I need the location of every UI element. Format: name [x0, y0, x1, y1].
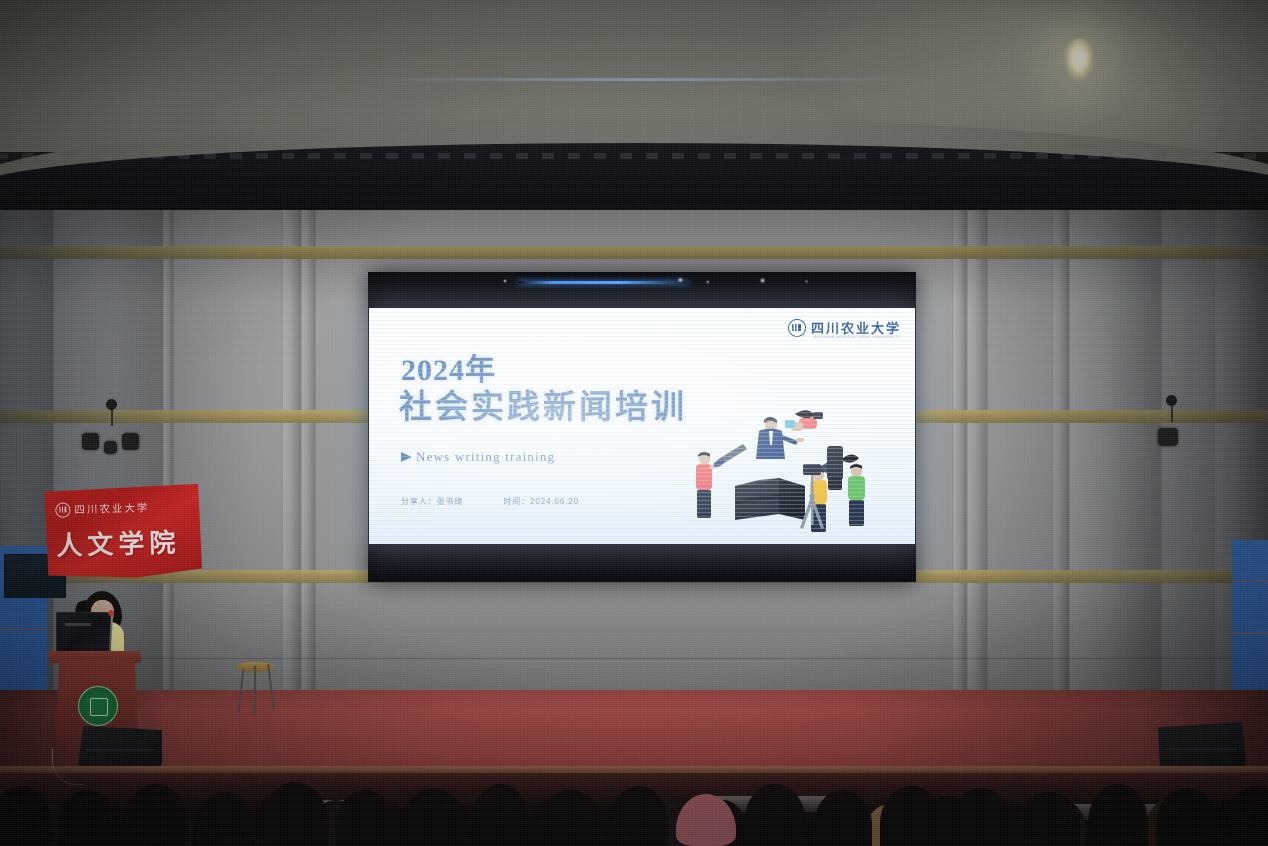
- spotlight-icon: [82, 433, 99, 450]
- presentation-slide: 四川农业大学 SICHUAN AGRICULTURAL UNIVERSITY 2…: [369, 308, 915, 544]
- audience-head: [880, 786, 944, 846]
- auditorium-photo: 四川农业大学 SICHUAN AGRICULTURAL UNIVERSITY 2…: [0, 0, 1268, 846]
- stage-monitor-left: [78, 726, 162, 766]
- spotlight-stem: [1171, 406, 1173, 422]
- podium-monitor: [56, 612, 111, 655]
- screen-blue-strip: [518, 281, 688, 284]
- speaker-podium: [56, 660, 138, 738]
- wainscot-line: [1232, 580, 1268, 582]
- spotlight-dome-icon: [1166, 395, 1177, 406]
- slide-title-line1: 2024年: [401, 356, 496, 386]
- university-emblem-icon: [788, 319, 806, 337]
- audience-head: [58, 790, 116, 846]
- audience-head: [814, 790, 872, 846]
- slide-university-logo: 四川农业大学 SICHUAN AGRICULTURAL UNIVERSITY: [788, 318, 901, 337]
- spotlight-dome-icon: [106, 399, 117, 410]
- beam-vent-slots: [0, 153, 1268, 159]
- illustration-podium: [735, 478, 805, 520]
- audience-head: [336, 790, 394, 846]
- audience-head: [124, 784, 188, 846]
- press-conference-illustration: [695, 408, 905, 538]
- spotlight-icon: [122, 433, 139, 450]
- slide-subtitle-text: News writing training: [416, 449, 555, 465]
- wainscot-line: [0, 628, 48, 630]
- red-banner: 四川农业大学 人文学院: [43, 484, 203, 580]
- wainscot-line: [1232, 632, 1268, 634]
- wall-spotlight-cluster-left: [82, 416, 144, 450]
- audience-head: [402, 788, 464, 846]
- audience-head: [952, 788, 1010, 846]
- wall-spotlight-cluster-right: [1142, 412, 1204, 446]
- illustration-attendee-dark: [827, 446, 843, 490]
- slide-meta: 分享人：张书绮 时间：2024.06.20: [401, 496, 579, 507]
- ceiling-light-lit: [1063, 38, 1095, 82]
- spotlight-icon: [104, 441, 117, 454]
- slide-subtitle: News writing training: [401, 449, 555, 465]
- audience-head: [472, 784, 530, 846]
- audience-head: [1018, 792, 1080, 846]
- slide-logo-english: SICHUAN AGRICULTURAL UNIVERSITY: [814, 335, 901, 339]
- illustration-attendee-green: [841, 454, 865, 526]
- audience-head: [1156, 788, 1220, 846]
- banner-org-row: 四川农业大学: [55, 500, 149, 518]
- audience-head: [262, 782, 328, 846]
- audience-head: [0, 786, 52, 846]
- podium-university-seal: [78, 686, 118, 726]
- slide-presenter-label: 分享人：张书绮: [401, 496, 463, 507]
- play-arrow-icon: [401, 452, 412, 462]
- banner-college-text: 人文学院: [56, 522, 181, 562]
- audience-head: [1088, 784, 1148, 846]
- audience-head: [744, 784, 806, 846]
- podium-monitor-screen: [59, 615, 108, 652]
- banner-org-text: 四川农业大学: [74, 500, 149, 517]
- audience-head: [538, 790, 602, 846]
- beam-light-reflection: [360, 78, 920, 81]
- university-emblem-icon: [55, 502, 70, 517]
- audience-head: [1226, 786, 1268, 846]
- spotlight-stem: [111, 410, 113, 426]
- spotlight-icon: [1158, 428, 1178, 446]
- audience-seating: [0, 766, 1268, 846]
- audience-head: [196, 792, 254, 846]
- slide-title-line2: 社会实践新闻培训: [399, 392, 687, 425]
- audience-head: [610, 786, 668, 846]
- slide-date-label: 时间：2024.06.20: [503, 496, 579, 507]
- stage-monitor-right: [1158, 722, 1246, 766]
- illustration-photographer: [785, 410, 823, 431]
- podium-microphone: [108, 610, 114, 616]
- stool-leg: [254, 666, 256, 714]
